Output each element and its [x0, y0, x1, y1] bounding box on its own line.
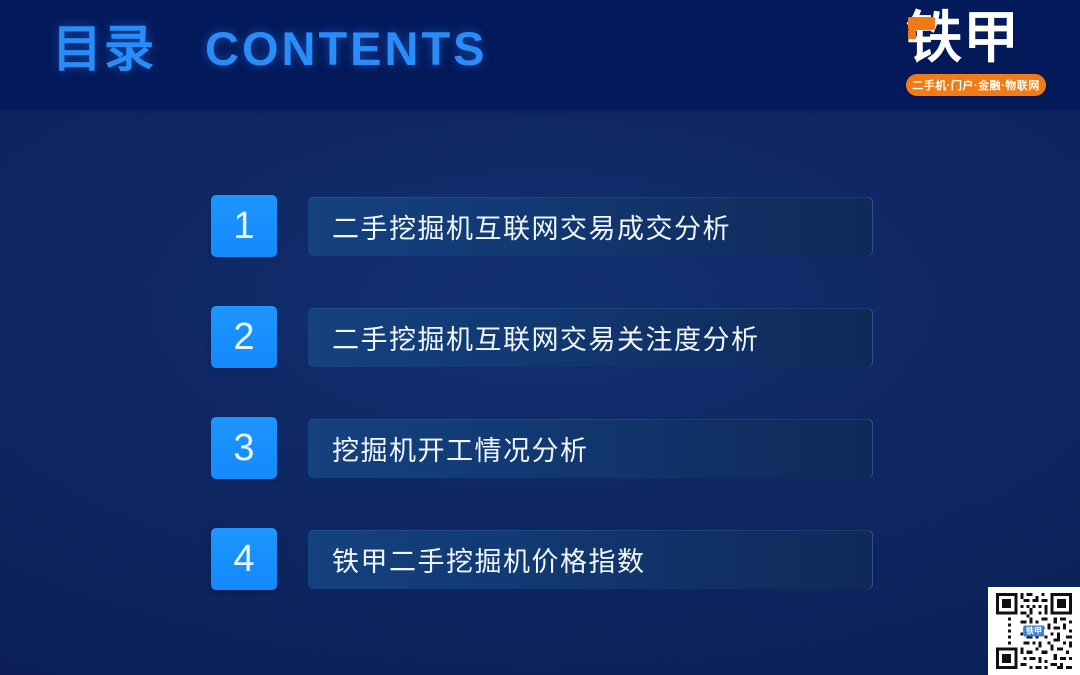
logo-tagline: 二手机·门户·金融·物联网 [906, 74, 1046, 96]
qr-center-logo: 铁甲 [1024, 626, 1044, 637]
page-title-cn: 目录 [52, 18, 156, 80]
item-number-badge: 2 [211, 306, 277, 368]
slide-canvas: 目录 CONTENTS 铁甲 二手机·门户·金融·物联网 1 二手挖掘机互联网交… [0, 0, 1080, 675]
item-label: 二手挖掘机互联网交易关注度分析 [332, 308, 760, 367]
contents-item-4[interactable]: 4 铁甲二手挖掘机价格指数 [0, 528, 1080, 590]
brand-logo: 铁甲 二手机·门户·金融·物联网 [900, 8, 1052, 104]
contents-item-2[interactable]: 2 二手挖掘机互联网交易关注度分析 [0, 306, 1080, 368]
header-band: 目录 CONTENTS 铁甲 二手机·门户·金融·物联网 [0, 0, 1080, 113]
item-number-badge: 3 [211, 417, 277, 479]
logo-accent-shape [908, 17, 935, 30]
item-label: 二手挖掘机互联网交易成交分析 [332, 197, 731, 256]
contents-item-1[interactable]: 1 二手挖掘机互联网交易成交分析 [0, 195, 1080, 257]
contents-item-3[interactable]: 3 挖掘机开工情况分析 [0, 417, 1080, 479]
qr-code[interactable]: 铁甲 [988, 587, 1080, 675]
contents-list: 1 二手挖掘机互联网交易成交分析 2 二手挖掘机互联网交易关注度分析 3 挖掘机… [0, 195, 1080, 639]
logo-wordmark: 铁甲 [906, 6, 1020, 70]
logo-mark: 铁甲 [900, 8, 1052, 70]
item-label: 挖掘机开工情况分析 [332, 419, 589, 478]
page-title-en: CONTENTS [205, 16, 488, 82]
item-number-badge: 4 [211, 528, 277, 590]
item-number-badge: 1 [211, 195, 277, 257]
item-label: 铁甲二手挖掘机价格指数 [332, 530, 646, 589]
